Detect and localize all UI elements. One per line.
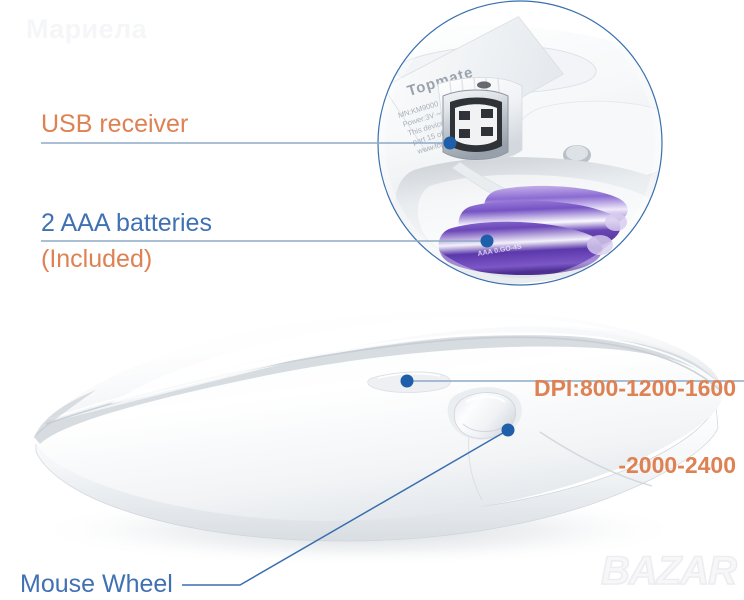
callout-dot-usb-receiver xyxy=(444,137,457,150)
callout-dot-batteries xyxy=(481,235,494,248)
infographic-canvas: Мариела xyxy=(0,0,744,600)
callout-label-usb-receiver: USB receiver xyxy=(41,110,188,138)
dpi-line-2: -2000-2400 xyxy=(534,453,736,479)
leader-line-mouse-wheel xyxy=(182,430,508,585)
callout-dot-dpi xyxy=(401,375,414,388)
callout-dot-mouse-wheel xyxy=(502,424,515,437)
callout-label-dpi: DPI:800-1200-1600 -2000-2400 xyxy=(534,324,736,530)
callout-label-mouse-wheel: Mouse Wheel xyxy=(20,570,173,598)
callout-label-batteries: 2 AAA batteries xyxy=(41,209,212,237)
callout-label-batteries-included: (Included) xyxy=(41,245,152,273)
dpi-line-1: DPI:800-1200-1600 xyxy=(534,376,736,402)
